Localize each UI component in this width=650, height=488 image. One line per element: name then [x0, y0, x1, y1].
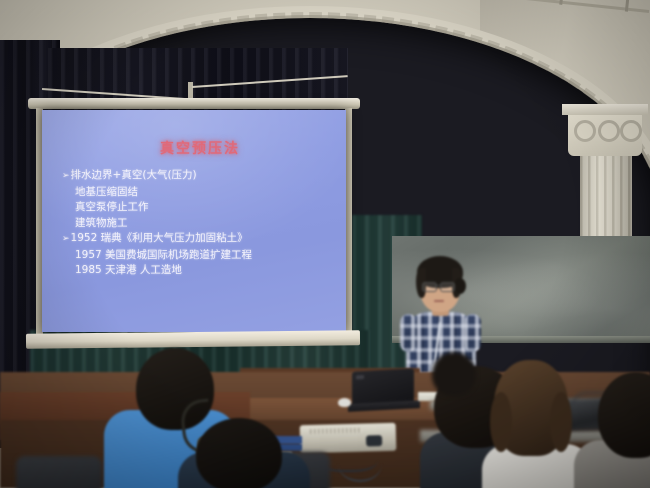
corinthian-column-capital — [568, 112, 642, 156]
slide-line: ➢排水边界+真空(大气(压力) — [62, 168, 346, 185]
computer-mouse — [338, 398, 351, 407]
slide-line-text: 地基压缩固结 — [75, 186, 138, 198]
slide-line: 真空泵停止工作 — [62, 200, 346, 216]
slide-line: 1985 天津港 人工造地 — [62, 263, 346, 279]
glasses-icon — [440, 282, 455, 292]
bullet-icon: ➢ — [62, 171, 70, 181]
screen-bottom-bar — [26, 330, 360, 348]
lecture-hall-photo: 真空预压法 ➢排水边界+真空(大气(压力) 地基压缩固结 真空泵停止工作 建筑物… — [0, 0, 650, 488]
screen-edge-right — [345, 108, 352, 334]
slide-line-text: 1952 瑞典《利用大气压力加固粘土》 — [71, 232, 248, 244]
slide-title: 真空预压法 — [48, 138, 346, 158]
chair — [16, 456, 102, 488]
projection-screen: 真空预压法 ➢排水边界+真空(大气(压力) 地基压缩固结 真空泵停止工作 建筑物… — [36, 104, 352, 354]
slide-line: 1957 美国费城国际机场跑道扩建工程 — [62, 248, 346, 264]
slide-line: 地基压缩固结 — [62, 185, 346, 201]
slide-line-text: 1957 美国费城国际机场跑道扩建工程 — [75, 249, 252, 261]
screen-surface: 真空预压法 ➢排水边界+真空(大气(压力) 地基压缩固结 真空泵停止工作 建筑物… — [42, 110, 346, 332]
slide-line-text: 真空泵停止工作 — [75, 201, 149, 213]
slide-line-text: 排水边界+真空(大气(压力) — [71, 169, 197, 181]
screen-top-roller-bar — [28, 98, 360, 109]
slide-line: 建筑物施工 — [62, 216, 346, 232]
column-abacus — [562, 104, 648, 115]
slide-content: 真空预压法 ➢排水边界+真空(大气(压力) 地基压缩固结 真空泵停止工作 建筑物… — [48, 116, 346, 332]
projector-cable — [338, 446, 382, 482]
slide-line-text: 1985 天津港 人工造地 — [75, 264, 182, 276]
bullet-icon: ➢ — [62, 234, 70, 244]
glasses-icon — [422, 282, 437, 292]
slide-line-text: 建筑物施工 — [75, 217, 128, 229]
slide-line: ➢1952 瑞典《利用大气压力加固粘土》 — [62, 231, 346, 248]
slide-body: ➢排水边界+真空(大气(压力) 地基压缩固结 真空泵停止工作 建筑物施工 ➢19… — [62, 168, 346, 279]
